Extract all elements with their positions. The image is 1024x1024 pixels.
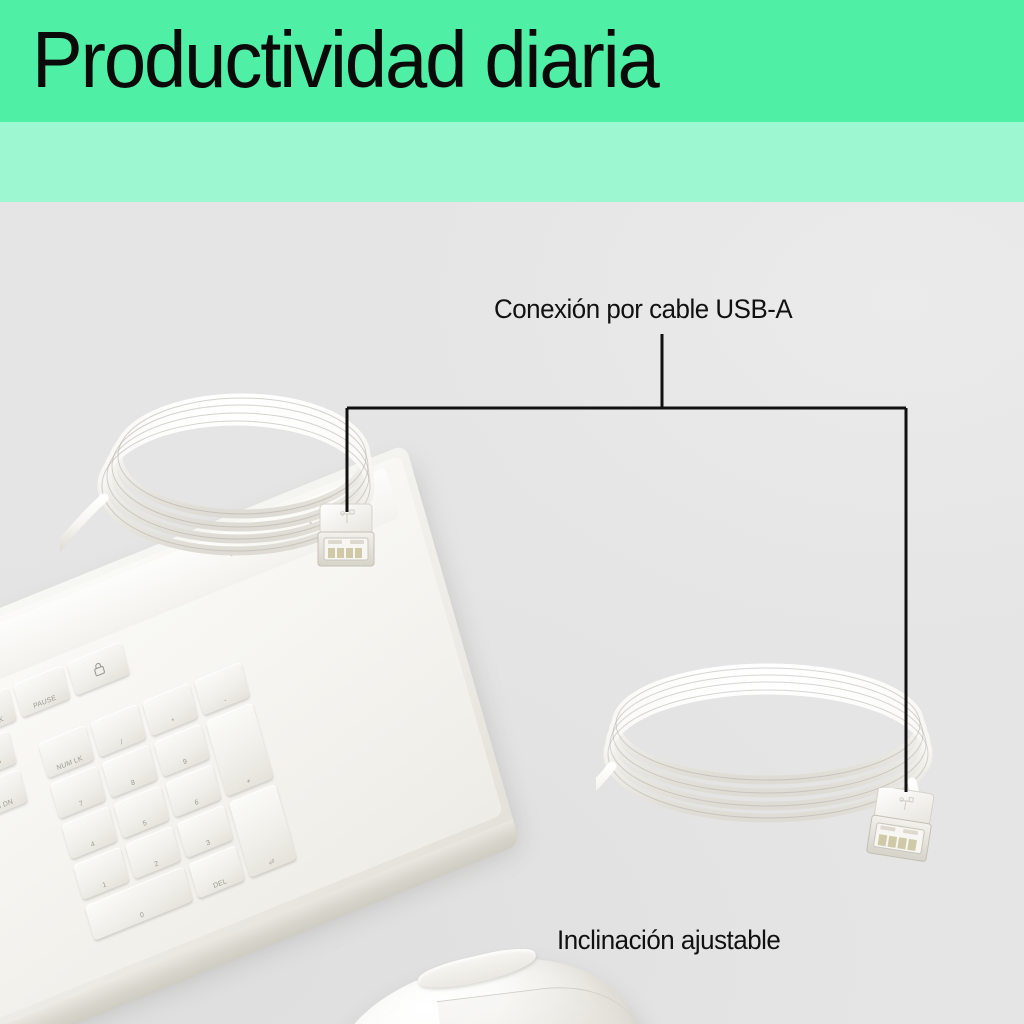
subhead-band: Conectividad USB rápida y fiable. [0,122,1024,202]
page-title: Productividad diaria [32,8,658,112]
usb-a-connector-mouse [858,788,950,876]
callout-label-adjustable-tilt: Inclinación ajustable [557,923,780,957]
headline-band: Productividad diaria [0,0,1024,122]
product-marketing-image: Productividad diaria Conectividad USB rá… [0,0,1024,1024]
usb-a-connector-keyboard [302,502,392,574]
callout-label-usb-cable: Conexión por cable USB-A [494,292,792,326]
